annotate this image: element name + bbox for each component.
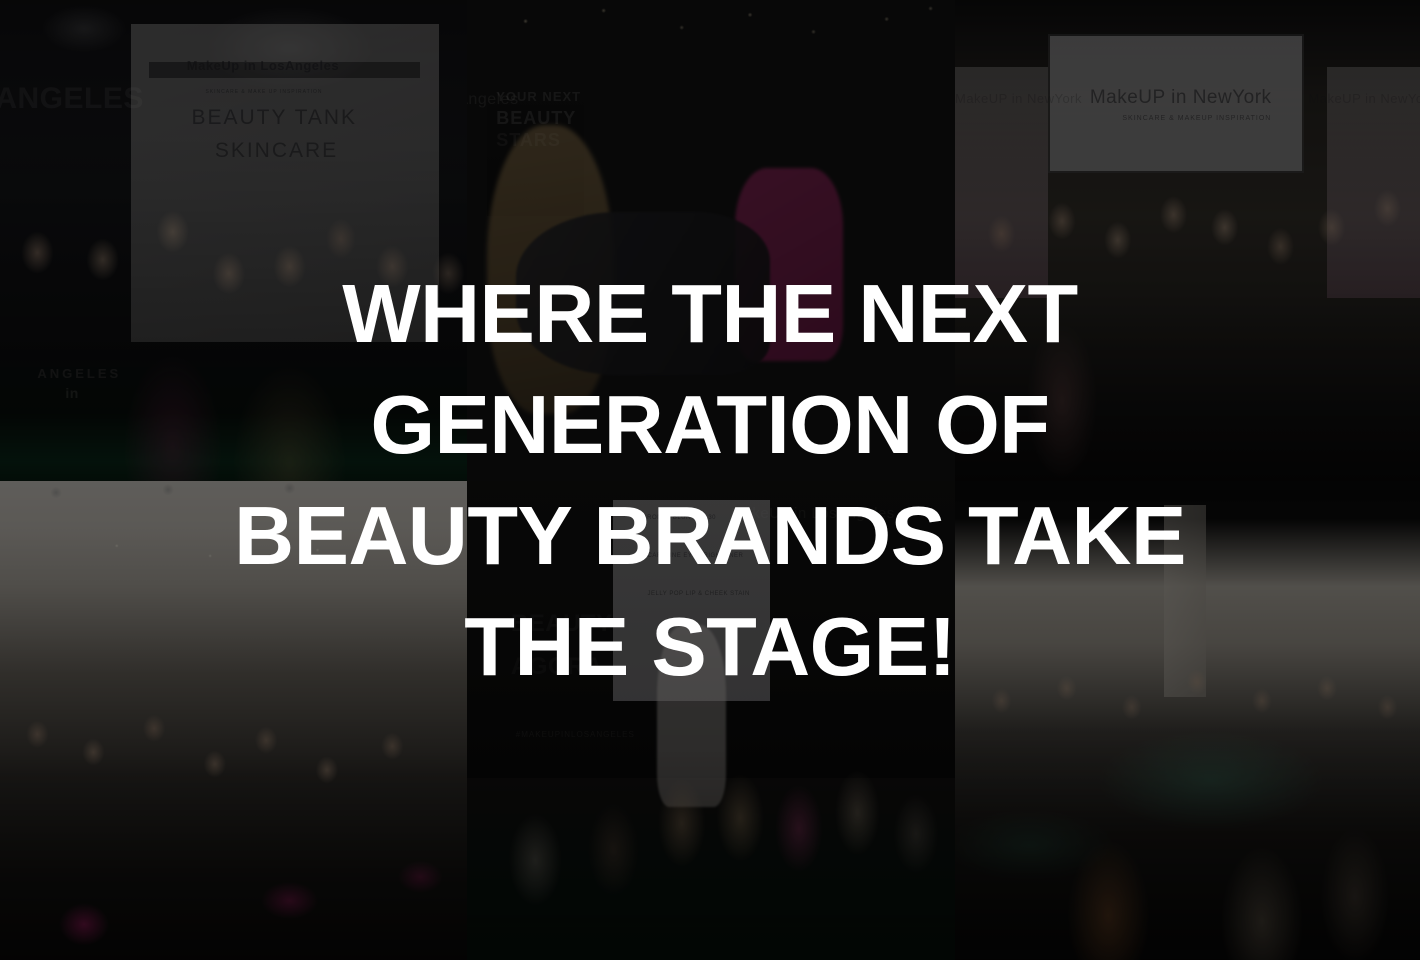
headline-container: Where the next generation of beauty bran… [0, 0, 1420, 960]
hero-banner: MakeUp in LosAngeles SKINCARE & MAKE UP … [0, 0, 1420, 960]
hero-headline: Where the next generation of beauty bran… [205, 258, 1215, 702]
